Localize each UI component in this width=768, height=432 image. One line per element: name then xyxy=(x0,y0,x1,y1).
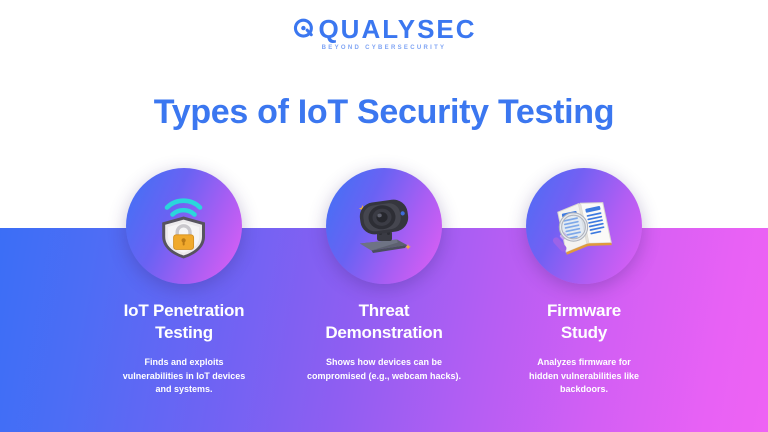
column-1-desc-line2: vulnerabilities in IoT devices xyxy=(92,370,277,384)
column-iot-penetration-testing: IoT Penetration Testing Finds and exploi… xyxy=(84,168,284,397)
logo-tagline: BEYOND CYBERSECURITY xyxy=(322,45,447,51)
logo-row: QUALYSEC xyxy=(291,16,476,42)
column-1-description: Finds and exploits vulnerabilities in Io… xyxy=(92,356,277,397)
q-magnifier-logo-icon xyxy=(291,16,317,42)
infographic-canvas: QUALYSEC BEYOND CYBERSECURITY Types of I… xyxy=(0,0,768,432)
shield-lock-wifi-icon xyxy=(147,189,221,263)
column-3-heading-line1: Firmware xyxy=(489,300,679,322)
column-2-heading-line1: Threat xyxy=(289,300,479,322)
column-3-desc-line1: Analyzes firmware for xyxy=(492,356,677,370)
column-3-desc-line3: backdoors. xyxy=(492,383,677,397)
column-2-desc-line2: compromised (e.g., webcam hacks). xyxy=(292,370,477,384)
column-firmware-study: Firmware Study Analyzes firmware for hid… xyxy=(484,168,684,397)
column-threat-demonstration: Threat Demonstration Shows how devices c… xyxy=(284,168,484,383)
book-magnifier-icon xyxy=(547,189,621,263)
column-3-description: Analyzes firmware for hidden vulnerabili… xyxy=(492,356,677,397)
icon-circle-3 xyxy=(526,168,642,284)
column-2-heading: Threat Demonstration xyxy=(289,300,479,344)
column-3-heading: Firmware Study xyxy=(489,300,679,344)
column-1-heading: IoT Penetration Testing xyxy=(89,300,279,344)
column-2-description: Shows how devices can be compromised (e.… xyxy=(292,356,477,383)
column-1-desc-line1: Finds and exploits xyxy=(92,356,277,370)
columns-container: IoT Penetration Testing Finds and exploi… xyxy=(0,168,768,432)
column-1-desc-line3: and systems. xyxy=(92,383,277,397)
column-2-desc-line1: Shows how devices can be xyxy=(292,356,477,370)
logo-wordmark: QUALYSEC xyxy=(318,16,476,42)
column-1-heading-line2: Testing xyxy=(89,322,279,344)
webcam-icon xyxy=(347,189,421,263)
icon-circle-2 xyxy=(326,168,442,284)
column-3-heading-line2: Study xyxy=(489,322,679,344)
brand-logo: QUALYSEC BEYOND CYBERSECURITY xyxy=(0,16,768,51)
icon-circle-1 xyxy=(126,168,242,284)
page-title: Types of IoT Security Testing xyxy=(0,92,768,132)
column-1-heading-line1: IoT Penetration xyxy=(89,300,279,322)
column-2-heading-line2: Demonstration xyxy=(289,322,479,344)
column-3-desc-line2: hidden vulnerabilities like xyxy=(492,370,677,384)
